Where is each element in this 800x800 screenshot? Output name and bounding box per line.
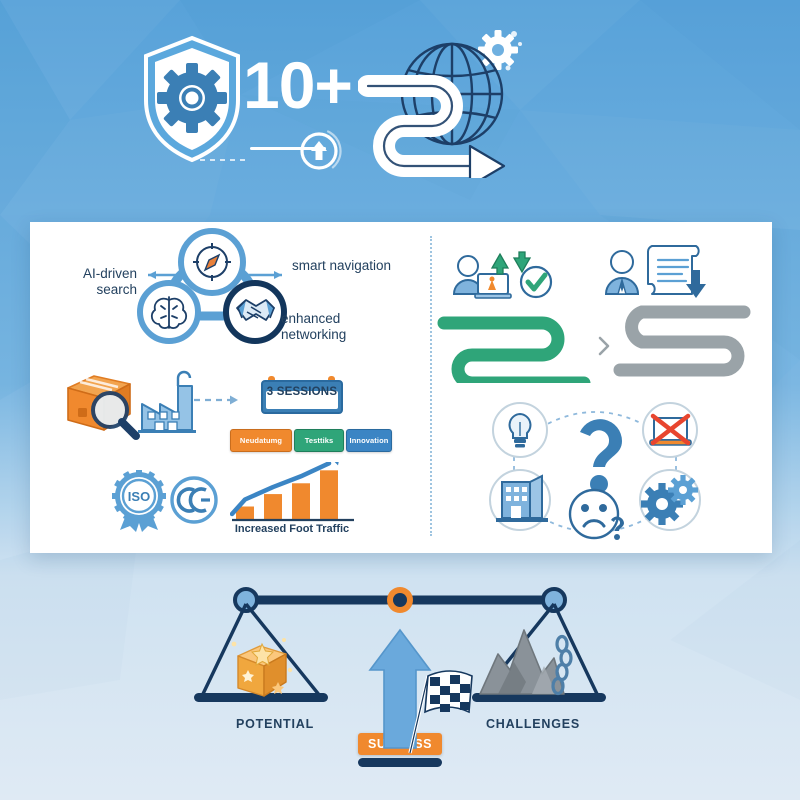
sad-face-icon	[570, 490, 624, 540]
checkered-flag-icon	[410, 671, 472, 753]
compass-icon	[181, 231, 243, 293]
panel-divider	[430, 236, 432, 536]
label-enhanced-networking: enhanced networking	[281, 311, 401, 343]
label-ai-driven-search: AI-driven search	[45, 266, 137, 298]
arrow-left-icon	[138, 268, 180, 282]
handshake-icon	[226, 283, 284, 341]
iso-badge-icon: ISO	[110, 470, 168, 532]
svg-text:ISO: ISO	[128, 489, 150, 504]
person-at-laptop-icon	[448, 248, 558, 304]
rocks-and-chain-icon	[480, 630, 571, 694]
question-mark-icon	[580, 419, 622, 493]
document-review-icon	[600, 240, 710, 306]
gear-icon	[470, 28, 526, 78]
tag-chip[interactable]: Innovation	[346, 429, 392, 452]
chart-title: Increased Foot Traffic	[222, 523, 362, 535]
globe-arrow-icon	[358, 28, 526, 178]
tag-chip[interactable]: Testtiks	[294, 429, 344, 452]
success-arrow	[370, 630, 430, 748]
brain-icon	[140, 283, 198, 341]
check-circle-icon	[521, 267, 551, 297]
hero-banner: 10+	[0, 0, 800, 200]
green-process-track	[432, 305, 602, 383]
dashed-arrow-icon	[194, 393, 254, 407]
foot-traffic-bar-chart	[230, 462, 356, 524]
hero-count: 10+	[243, 52, 352, 118]
problem-cluster	[480, 400, 710, 550]
label-smart-navigation: smart navigation	[292, 258, 402, 274]
network-cluster	[125, 228, 300, 348]
factory-icon	[138, 372, 196, 433]
gray-process-track	[606, 300, 756, 382]
arrow-right-icon	[248, 268, 292, 282]
businessman-icon	[606, 251, 638, 294]
balance-scale	[180, 578, 620, 768]
lightbulb-icon	[493, 403, 547, 457]
office-building-icon	[490, 470, 550, 530]
calendar-session-text: 3 SESSIONS	[264, 386, 340, 398]
laptop-icon	[475, 274, 511, 298]
tag-chip[interactable]: Neudatumg	[230, 429, 292, 452]
ce-mark-icon	[168, 474, 220, 526]
treasure-box-icon	[232, 638, 293, 696]
gears-icon	[632, 469, 704, 534]
circled-up-arrow-icon	[296, 128, 342, 174]
up-arrow-icon	[492, 254, 508, 274]
laptop-crossed-out-icon	[643, 403, 697, 457]
